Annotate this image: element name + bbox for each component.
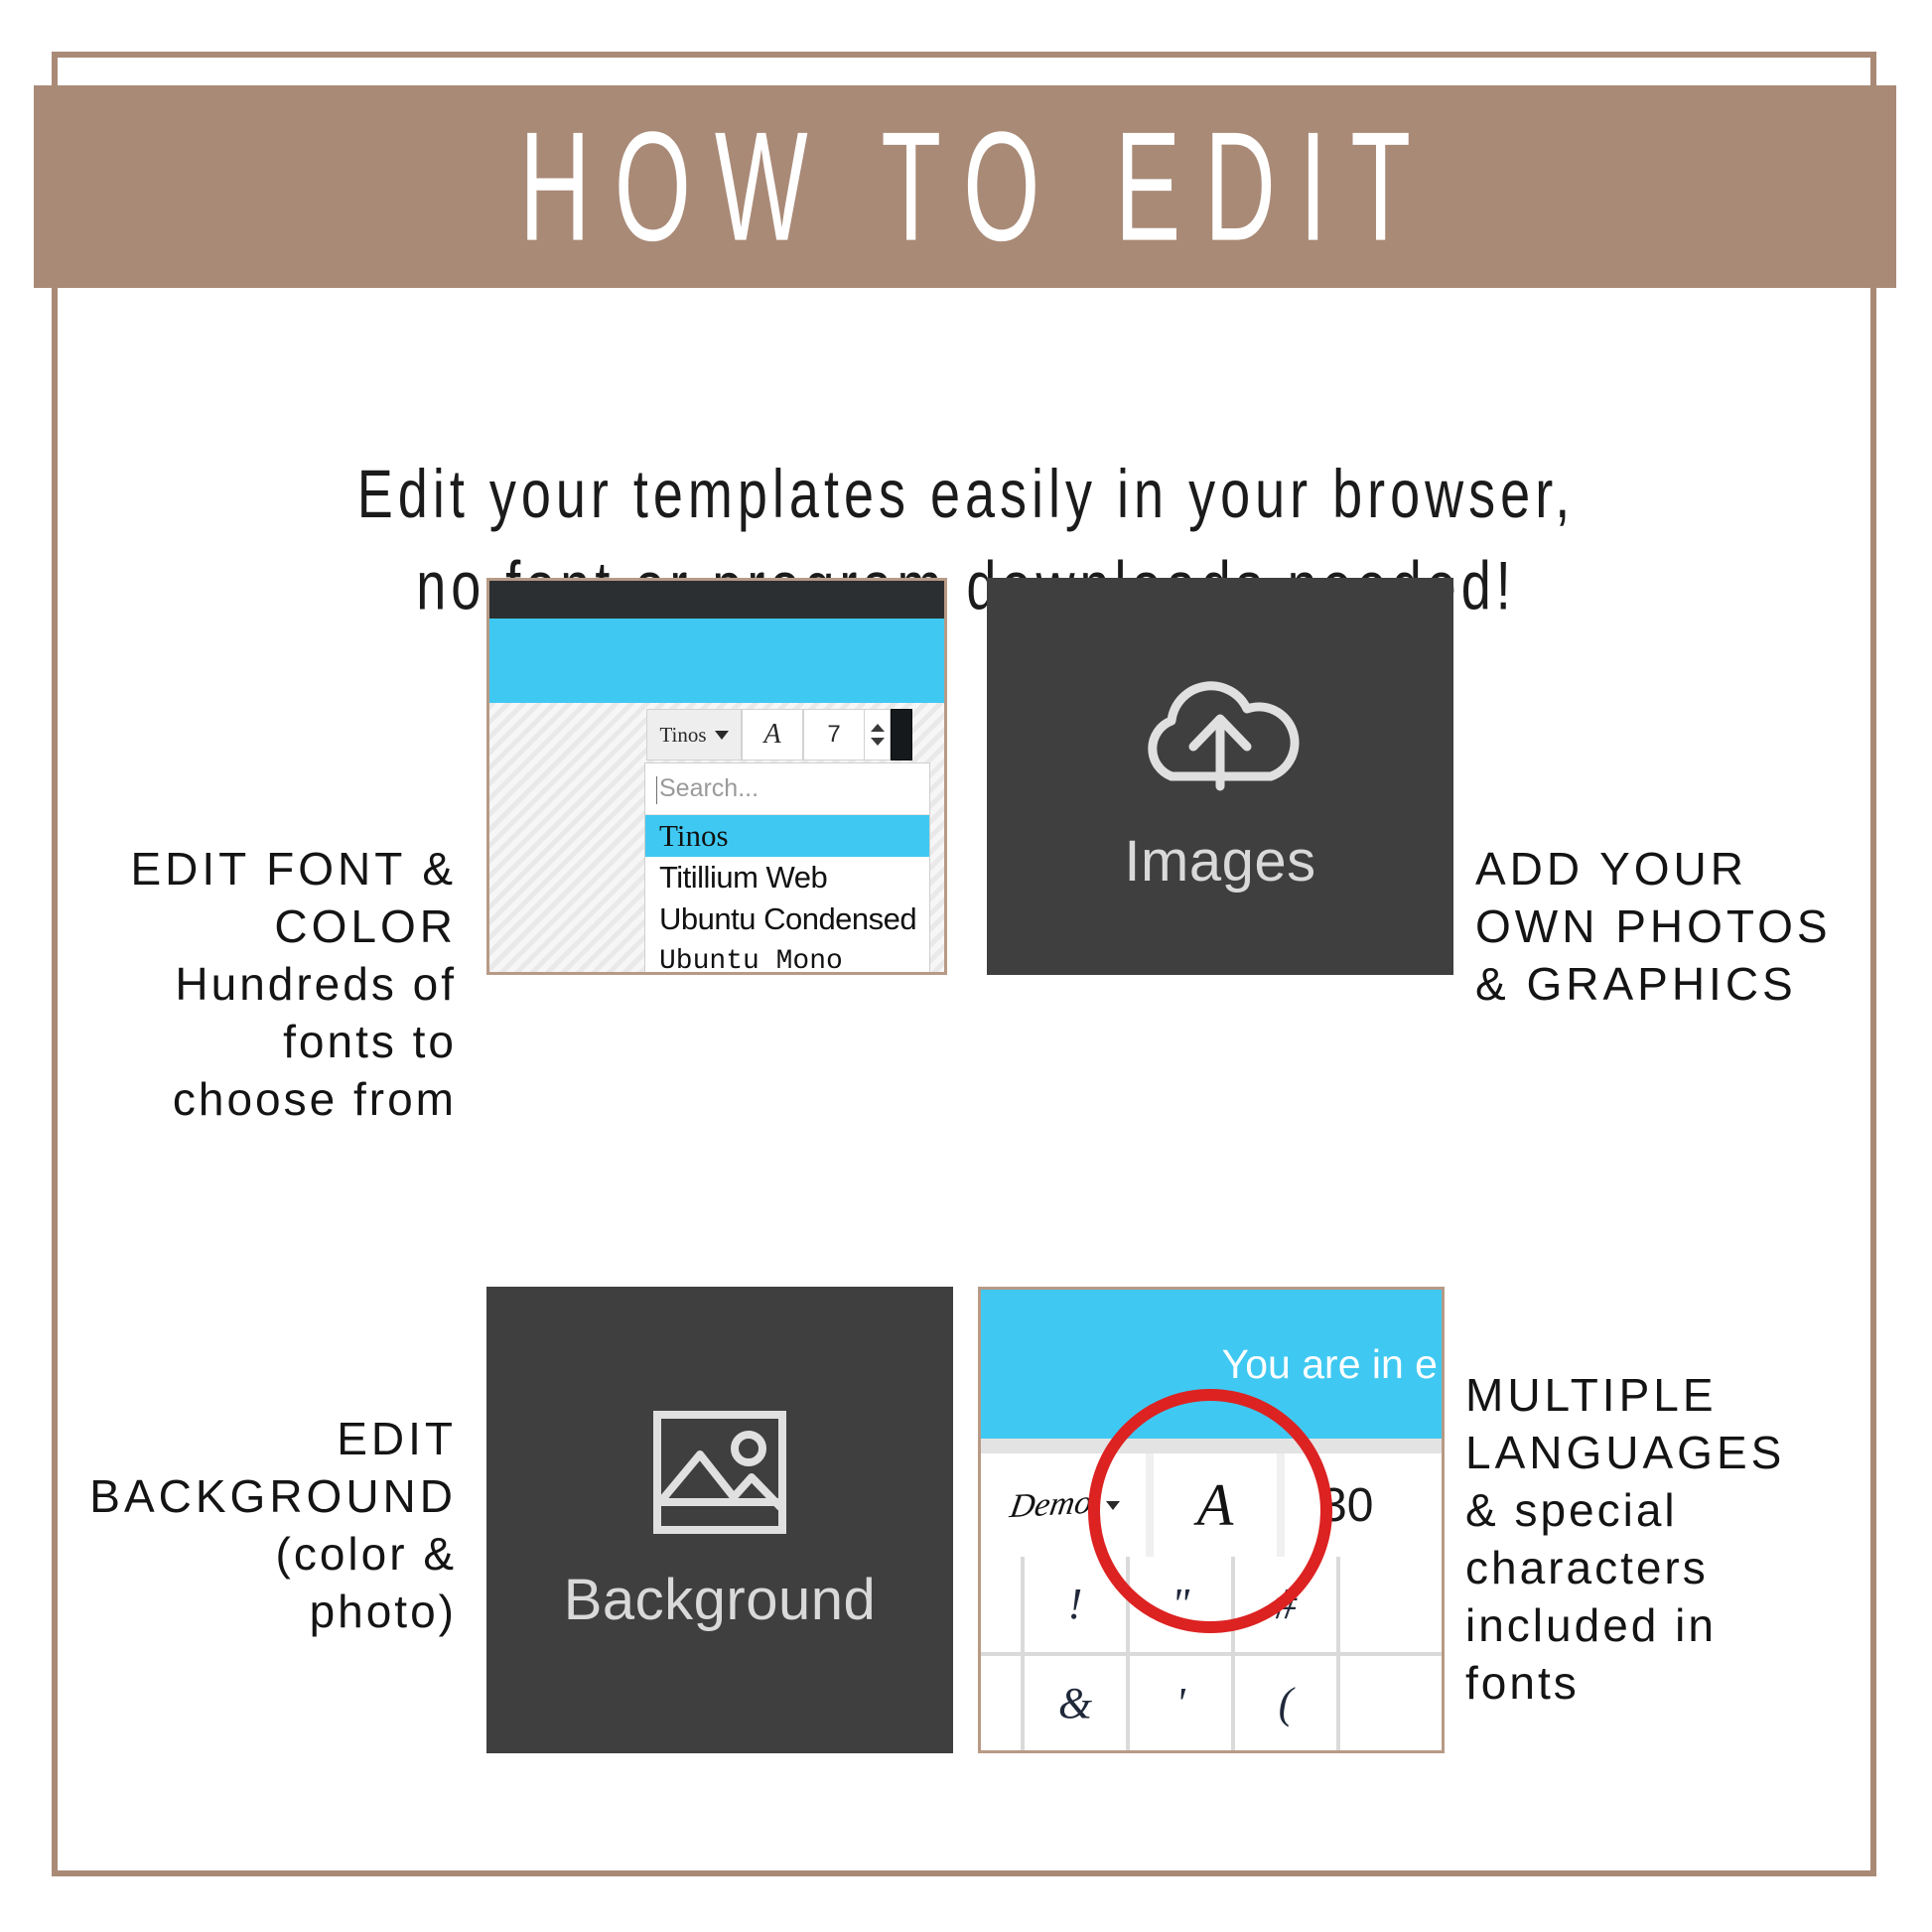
glyph-style-letter: A — [1197, 1471, 1234, 1540]
caption-line: (color & — [40, 1525, 457, 1583]
editor-notice-text: You are in e — [1222, 1341, 1438, 1388]
font-picker-screenshot: Tinos A 7 Search... Tinos Titillium Web … — [486, 578, 947, 975]
picture-icon — [650, 1408, 789, 1537]
page-title: HOW TO EDIT — [495, 109, 1435, 265]
caption-edit-font-color: EDIT FONT & COLOR Hundreds of fonts to c… — [60, 840, 457, 1128]
glyph-key[interactable]: ' — [1130, 1656, 1231, 1751]
caption-line: & GRAPHICS — [1475, 955, 1892, 1013]
intro-line-2: no font or program downloads needed! — [119, 540, 1813, 631]
font-size-stepper[interactable] — [865, 709, 891, 760]
glyph-key[interactable] — [1340, 1656, 1442, 1751]
intro-line-1: Edit your templates easily in your brows… — [119, 449, 1813, 540]
font-search-input[interactable]: Search... — [645, 763, 929, 815]
glyph-key[interactable]: " — [1130, 1557, 1231, 1652]
glyph-key[interactable] — [981, 1557, 1021, 1652]
caption-line: MULTIPLE — [1465, 1366, 1892, 1424]
font-list-item-ubuntu-mono[interactable]: Ubuntu Mono — [645, 940, 929, 975]
caption-line: LANGUAGES — [1465, 1424, 1892, 1481]
caption-line: BACKGROUND — [40, 1467, 457, 1525]
glyph-key[interactable] — [981, 1656, 1021, 1751]
font-family-value: Tinos — [659, 723, 706, 748]
toolbar-divider — [981, 1439, 1442, 1453]
caption-line: fonts — [1465, 1654, 1892, 1712]
background-tool-tile[interactable]: Background — [486, 1287, 953, 1753]
caption-line: choose from — [60, 1070, 457, 1128]
caption-line: characters — [1465, 1539, 1892, 1596]
stepper-down-icon[interactable] — [871, 738, 885, 746]
caption-line: included in — [1465, 1596, 1892, 1654]
glyph-font-dropdown[interactable]: Demo — [981, 1453, 1154, 1557]
glyph-style-button[interactable]: A — [1154, 1453, 1285, 1557]
caption-add-photos: ADD YOUR OWN PHOTOS & GRAPHICS — [1475, 840, 1892, 1013]
font-size-input[interactable]: 7 — [803, 709, 865, 760]
caption-line: OWN PHOTOS — [1475, 897, 1892, 955]
editor-topbar — [489, 581, 944, 619]
glyph-size-input[interactable]: 30 — [1285, 1453, 1442, 1557]
character-grid: ! " # & ' ( — [981, 1557, 1442, 1750]
glyph-toolbar: Demo A 30 — [981, 1453, 1442, 1557]
chevron-down-icon — [715, 731, 729, 740]
caption-line: COLOR — [60, 897, 457, 955]
header-banner: HOW TO EDIT — [34, 85, 1896, 288]
special-characters-screenshot: You are in e Demo A 30 ! " # & ' ( — [978, 1287, 1445, 1753]
background-tile-label: Background — [564, 1567, 877, 1633]
images-tile-label: Images — [1124, 828, 1315, 895]
intro-subtitle: Edit your templates easily in your brows… — [119, 449, 1813, 631]
font-list-dropdown: Search... Tinos Titillium Web Ubuntu Con… — [644, 762, 930, 975]
font-list-item-ubuntu-condensed[interactable]: Ubuntu Condensed — [645, 898, 929, 940]
glyph-size-value: 30 — [1320, 1478, 1373, 1533]
poster-canvas: HOW TO EDIT Edit your templates easily i… — [0, 0, 1932, 1932]
glyph-key[interactable]: # — [1235, 1557, 1336, 1652]
font-list-item-titillium-web[interactable]: Titillium Web — [645, 857, 929, 898]
font-toolbar: Tinos A 7 — [646, 709, 912, 760]
caption-line: EDIT FONT & — [60, 840, 457, 897]
images-tool-tile[interactable]: Images — [987, 578, 1453, 975]
chevron-down-icon — [1106, 1501, 1120, 1510]
glyph-key[interactable]: & — [1025, 1656, 1126, 1751]
glyph-font-name: Demo — [1008, 1484, 1095, 1526]
glyph-key[interactable] — [1340, 1557, 1442, 1652]
caption-line: fonts to — [60, 1013, 457, 1070]
font-list: Tinos Titillium Web Ubuntu Condensed Ubu… — [645, 815, 929, 975]
cloud-upload-icon — [1126, 659, 1314, 798]
caption-line: ADD YOUR — [1475, 840, 1892, 897]
caption-line: Hundreds of — [60, 955, 457, 1013]
editor-notice-banner: You are in e — [981, 1290, 1442, 1439]
caption-line: EDIT — [40, 1410, 457, 1467]
glyph-key[interactable]: ( — [1235, 1656, 1336, 1751]
glyph-key[interactable]: ! — [1025, 1557, 1126, 1652]
font-family-dropdown[interactable]: Tinos — [646, 709, 742, 760]
caption-line: photo) — [40, 1583, 457, 1640]
text-color-swatch[interactable] — [891, 709, 912, 760]
stepper-up-icon[interactable] — [871, 724, 885, 732]
font-style-button[interactable]: A — [742, 709, 803, 760]
font-list-item-tinos[interactable]: Tinos — [645, 815, 929, 857]
caption-line: & special — [1465, 1481, 1892, 1539]
caption-edit-background: EDIT BACKGROUND (color & photo) — [40, 1410, 457, 1640]
editor-accent-band — [489, 619, 944, 703]
caption-multiple-languages: MULTIPLE LANGUAGES & special characters … — [1465, 1366, 1892, 1712]
